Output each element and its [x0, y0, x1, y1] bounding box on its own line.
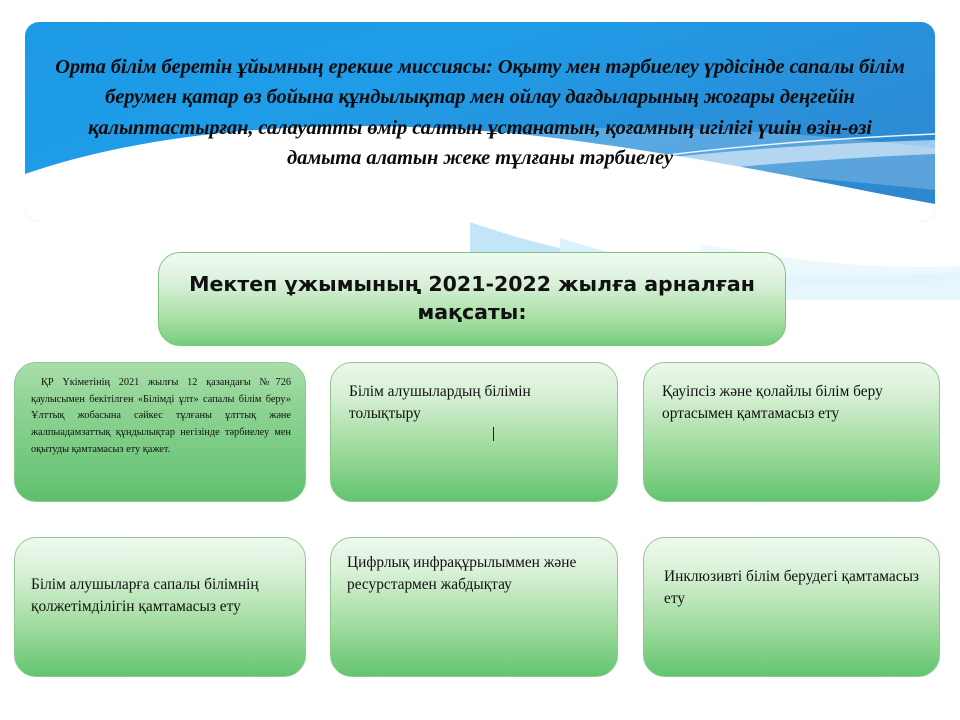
mission-banner: Орта білім беретін ұйымның ерекше миссия… [25, 22, 935, 222]
text-cursor-artifact [493, 427, 494, 441]
card-digital-infrastructure: Цифрлық инфрақұрылыммен және ресурстарме… [330, 537, 618, 677]
card-quality-access: Білім алушыларға сапалы білімнің қолжеті… [14, 537, 306, 677]
school-goal-title-text: Мектеп ұжымының 2021-2022 жылға арналған… [159, 271, 785, 326]
school-goal-title-box: Мектеп ұжымының 2021-2022 жылға арналған… [158, 252, 786, 346]
card-digital-infrastructure-text: Цифрлық инфрақұрылыммен және ресурстарме… [331, 538, 617, 597]
mission-statement-text: Орта білім беретін ұйымның ерекше миссия… [49, 52, 911, 173]
card-decree: ҚР Үкіметінің 2021 жылғы 12 қазандағы №7… [14, 362, 306, 502]
card-complete-knowledge: Білім алушылардың білімін толықтыру [330, 362, 618, 502]
card-safe-environment: Қауіпсіз және қолайлы білім беру ортасым… [643, 362, 940, 502]
card-inclusive-education-text: Инклюзивті білім берудегі қамтамасыз ету [644, 538, 939, 611]
card-inclusive-education: Инклюзивті білім берудегі қамтамасыз ету [643, 537, 940, 677]
card-decree-text: ҚР Үкіметінің 2021 жылғы 12 қазандағы №7… [15, 363, 305, 458]
card-quality-access-text: Білім алушыларға сапалы білімнің қолжеті… [15, 538, 305, 619]
presentation-slide: Орта білім беретін ұйымның ерекше миссия… [0, 0, 960, 720]
card-complete-knowledge-text: Білім алушылардың білімін толықтыру [331, 363, 617, 425]
card-safe-environment-text: Қауіпсіз және қолайлы білім беру ортасым… [644, 363, 939, 425]
